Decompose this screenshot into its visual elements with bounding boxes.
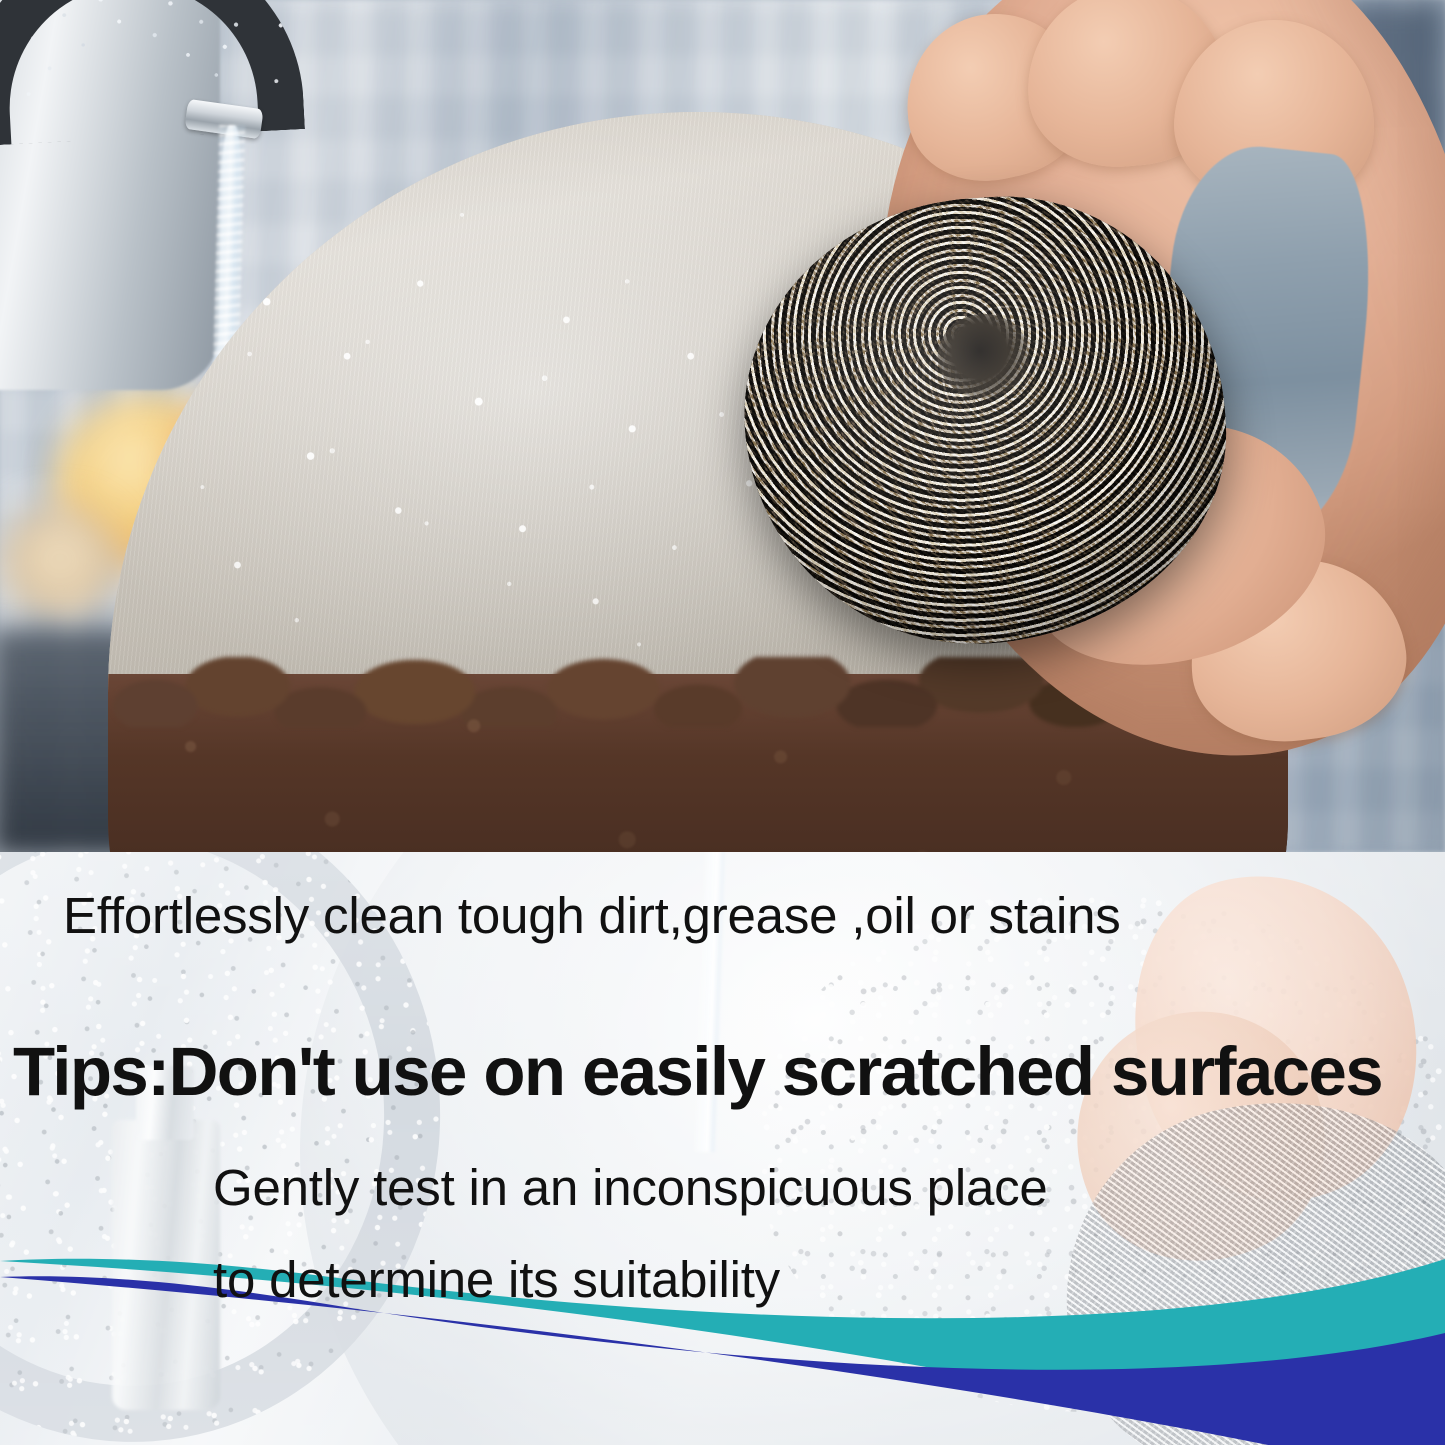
tip-headline: Tips:Don't use on easily scratched surfa… bbox=[13, 1032, 1382, 1111]
product-marketing-poster: Effortlessly clean tough dirt,grease ,oi… bbox=[0, 0, 1445, 1445]
tip-detail-line-1: Gently test in an inconspicuous place bbox=[213, 1158, 1048, 1217]
tip-detail-line-2: to determine its suitability bbox=[213, 1250, 780, 1309]
benefit-line: Effortlessly clean tough dirt,grease ,oi… bbox=[63, 886, 1121, 945]
message-text-block: Effortlessly clean tough dirt,grease ,oi… bbox=[0, 0, 1445, 1445]
